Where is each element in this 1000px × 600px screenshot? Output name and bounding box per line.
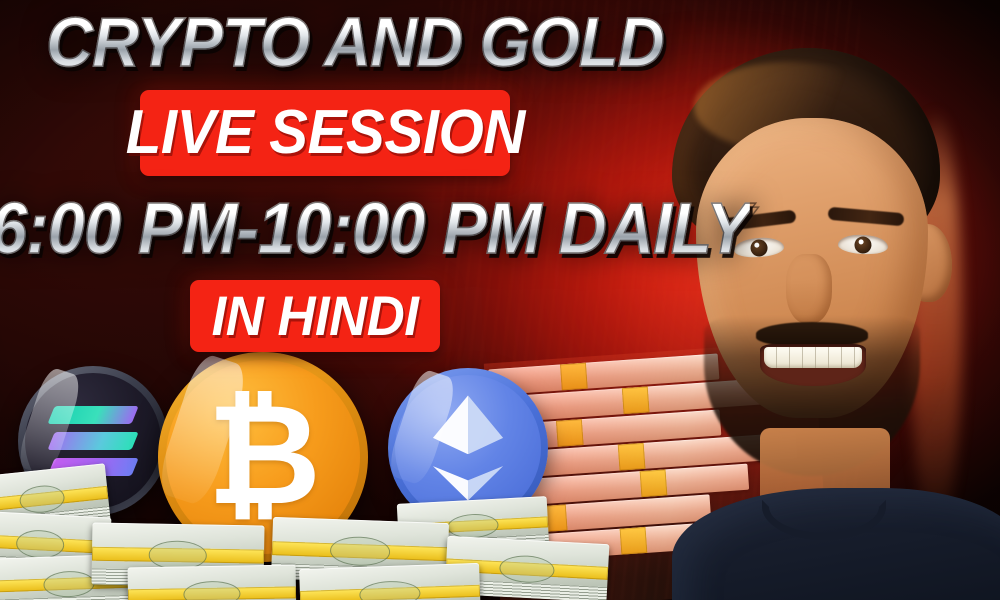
ethereum-logo-icon: [433, 395, 503, 500]
live-session-badge-label: LIVE SESSION: [125, 102, 524, 164]
language-badge: IN HINDI: [190, 280, 440, 352]
page-title: CRYPTO AND GOLD: [46, 10, 664, 74]
bitcoin-logo-icon: ₿: [207, 385, 319, 525]
nose: [786, 254, 832, 324]
youtube-thumbnail: ₿ CRYPTO AND GOLD LIVE SESSION 6:00 PM-1…: [0, 0, 1000, 600]
live-session-badge: LIVE SESSION: [140, 90, 510, 176]
mustache: [756, 322, 868, 346]
dollar-bundle: [128, 565, 297, 600]
schedule-text: 6:00 PM-10:00 PM DAILY: [0, 196, 750, 262]
language-badge-label: IN HINDI: [212, 288, 419, 344]
smiling-mouth: [760, 344, 866, 386]
teeth: [764, 347, 862, 368]
text-overlay: CRYPTO AND GOLD LIVE SESSION 6:00 PM-10:…: [0, 0, 720, 360]
dollar-bundle: [299, 563, 481, 600]
